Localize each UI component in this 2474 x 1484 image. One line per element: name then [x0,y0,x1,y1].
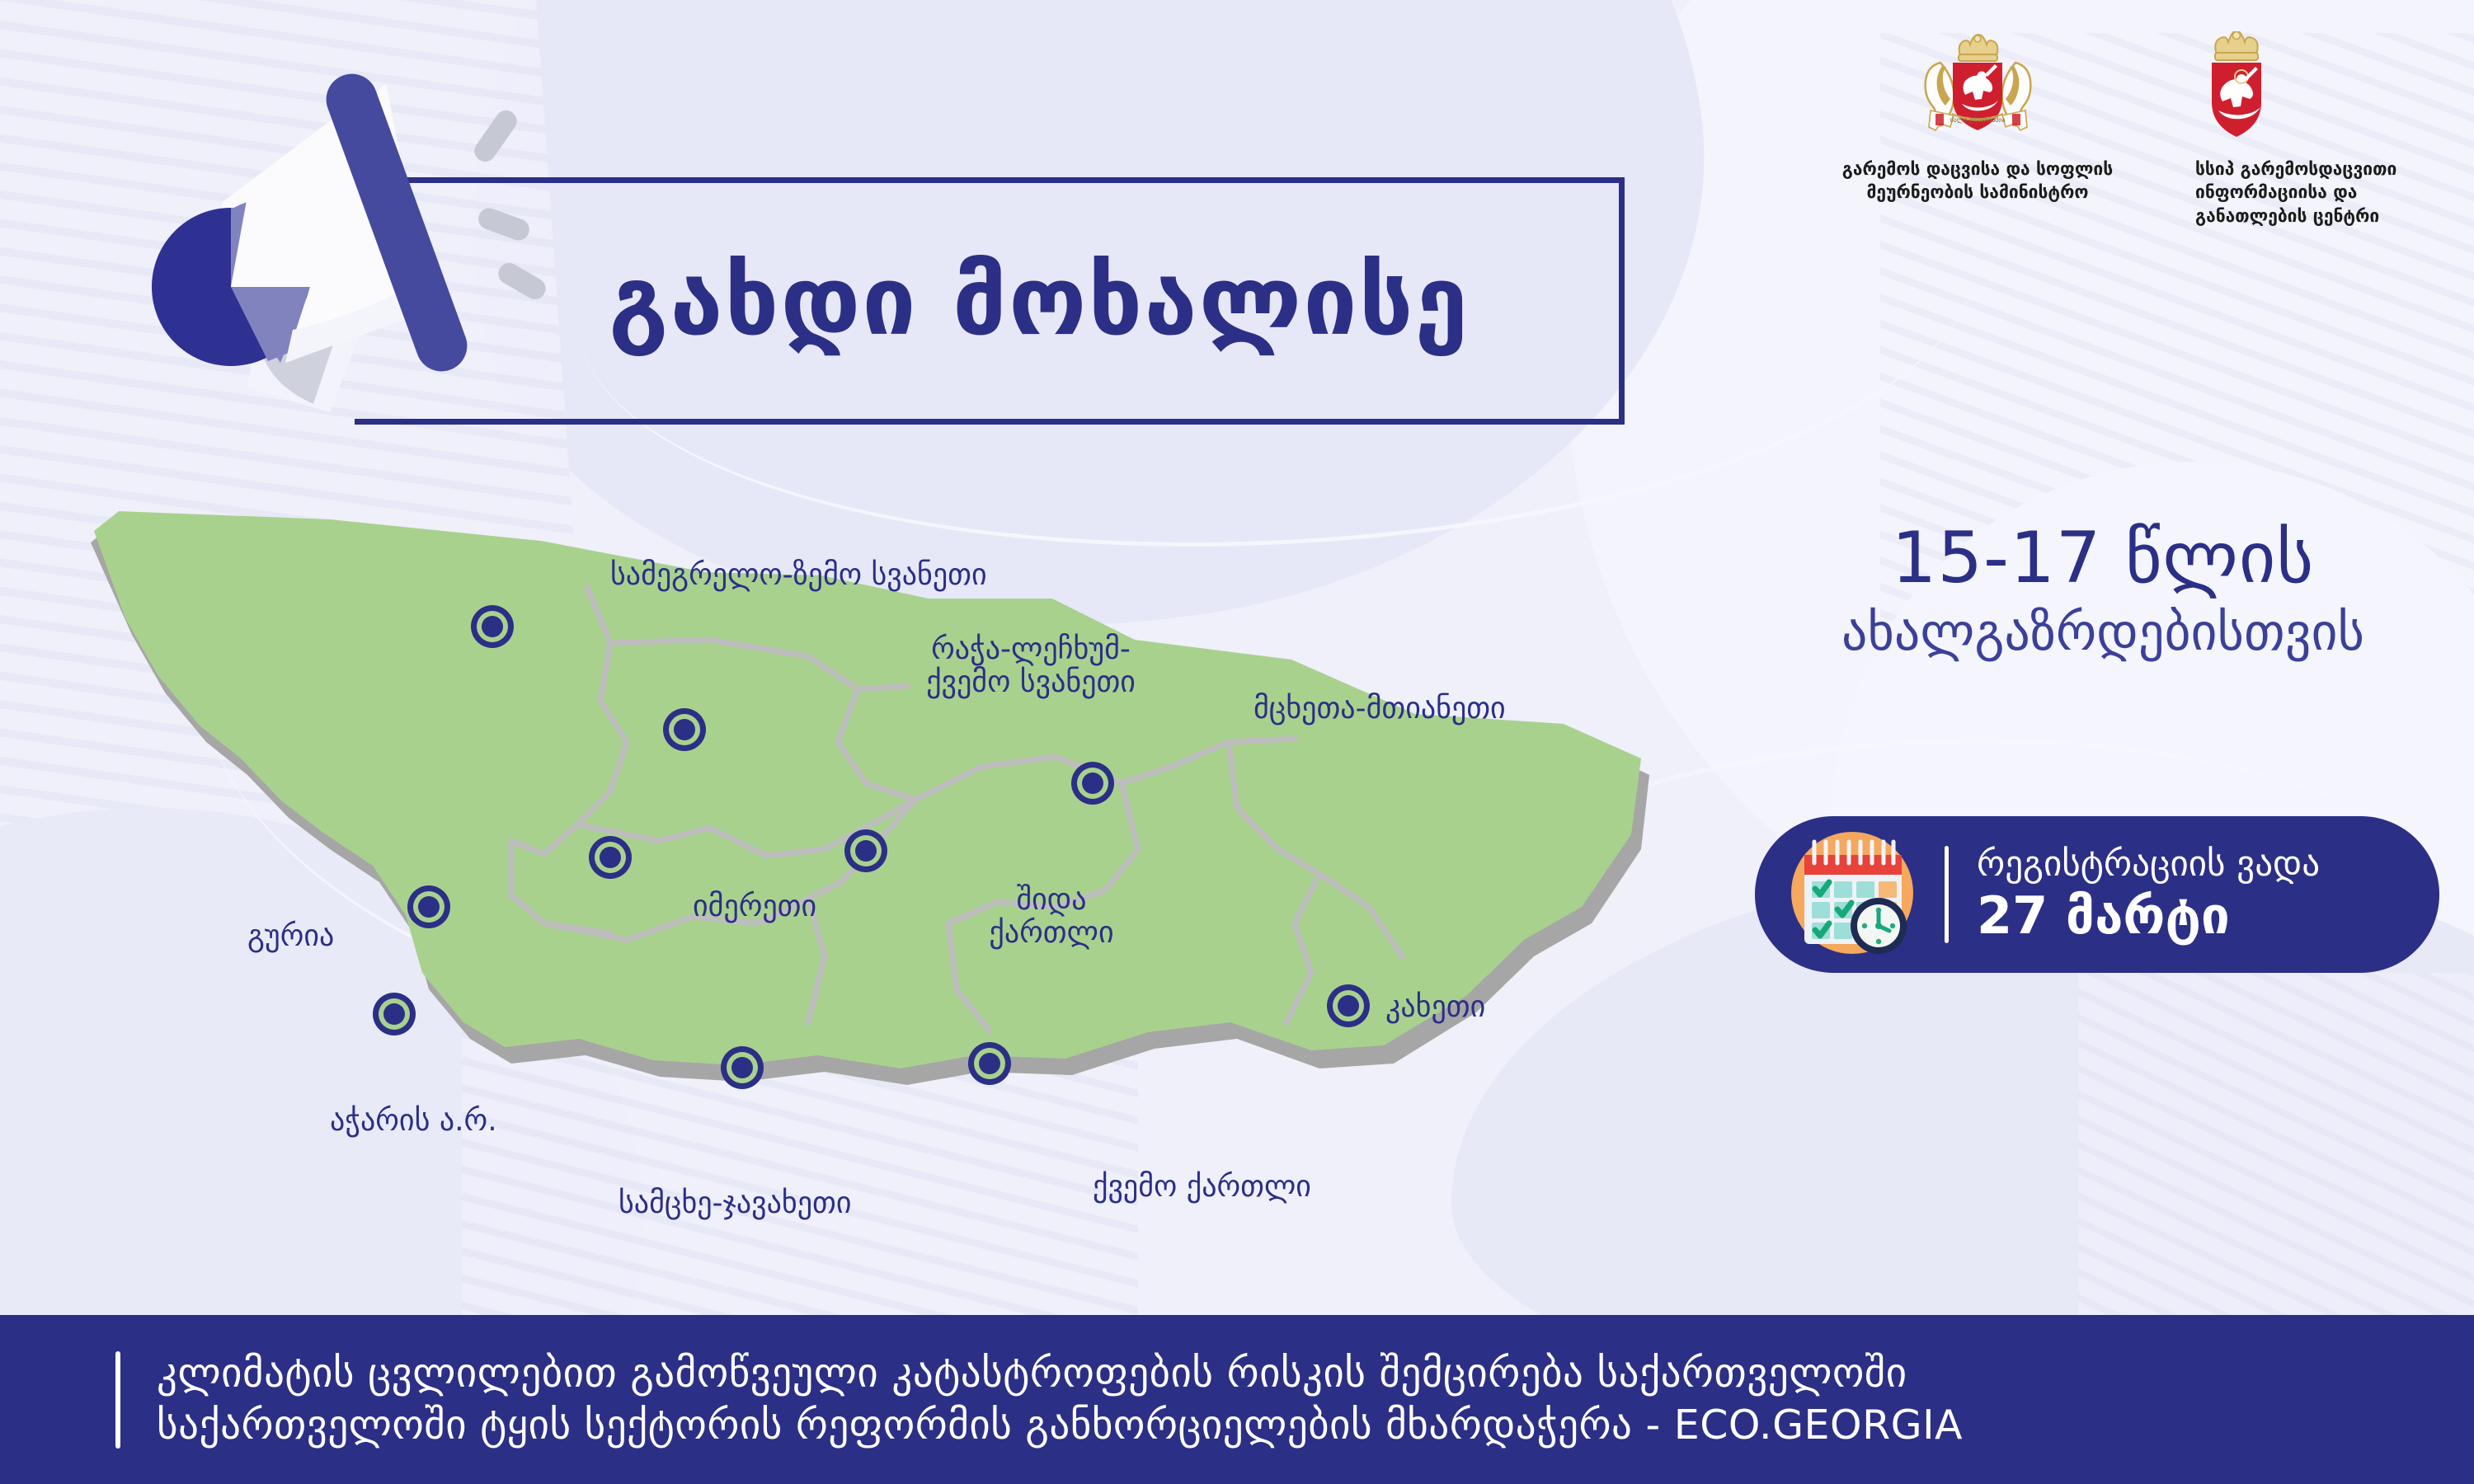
deadline-label: რეგისტრაციის ვადა [1977,844,2320,885]
map-label-shida-line2: ქართლი [989,916,1113,950]
megaphone-icon [124,33,553,429]
calendar-clock-icon [1785,824,1925,965]
registration-deadline-badge: რეგისტრაციის ვადა 27 მარტი [1755,816,2439,973]
map-label-mtskheta-mtianeti: მცხეთა-მთიანეთი [1253,693,1506,726]
deadline-texts: რეგისტრაციის ვადა 27 მარტი [1977,844,2320,946]
georgia-map-svg [82,495,1699,1237]
logo-center-caption: სსიპ გარემოსდაცვითი ინფორმაციისა და განა… [2195,157,2434,228]
age-requirement: 15-17 წლის ახალგაზრდებისთვის [1757,519,2449,661]
georgia-coat-of-arms-icon: ძალა ერთობაშია [1906,31,2050,146]
map-label-kvemo-kartli: ქვემო ქართლი [1093,1171,1311,1204]
svg-text:ძალა ერთობაშია: ძალა ერთობაშია [1950,115,2005,124]
map-label-shida-kartli: შიდა ქართლი [965,884,1138,951]
map-label-kakheti: კახეთი [1385,991,1485,1024]
map-label-samegrelo-zemo-svaneti: სამეგრელო-ზემო სვანეთი [610,559,987,592]
logo-group: ძალა ერთობაშია გარემოს დაცვისა და სოფლის… [1813,31,2434,228]
bottom-banner: კლიმატის ცვლილებით გამოწვეული კატასტროფე… [0,1315,2474,1484]
logo-ministry: ძალა ერთობაშია გარემოს დაცვისა და სოფლის… [1813,31,2142,204]
banner-line-2: საქართველოში ტყის სექტორის რეფორმის განხ… [157,1400,1963,1451]
map-label-racha-lechkhumi-kvemo-svaneti: რაჭა-ლეჩხუმ- ქვემო სვანეთი [858,633,1204,700]
banner-text-group: კლიმატის ცვლილებით გამოწვეული კატასტროფე… [157,1348,1963,1450]
map-label-samtskhe-javakheti: სამცხე-ჯავახეთი [618,1187,851,1220]
georgia-shield-crest-icon [2195,31,2278,146]
map-label-shida-line1: შიდა [1017,883,1087,917]
georgia-map: სამეგრელო-ზემო სვანეთი რაჭა-ლეჩხუმ- ქვემ… [82,495,1699,1237]
logo-center: სსიპ გარემოსდაცვითი ინფორმაციისა და განა… [2195,31,2434,228]
map-label-guria: გურია [247,920,334,953]
map-label-imereti: იმერეთი [693,890,816,923]
deadline-date: 27 მარტი [1977,886,2320,945]
map-label-adjara: აჭარის ა.რ. [330,1105,497,1138]
age-range-text: 15-17 წლის [1757,519,2449,598]
age-audience-text: ახალგაზრდებისთვის [1757,603,2449,661]
banner-line-1: კლიმატის ცვლილებით გამოწვეული კატასტროფე… [157,1348,1963,1399]
logo-ministry-caption: გარემოს დაცვისა და სოფლის მეურნეობის სამ… [1813,157,2142,204]
banner-accent-bar [115,1351,120,1449]
map-label-racha-line2: ქვემო სვანეთი [926,665,1136,699]
map-label-racha-line1: რაჭა-ლეჩხუმ- [931,632,1131,666]
pill-divider [1945,846,1949,943]
